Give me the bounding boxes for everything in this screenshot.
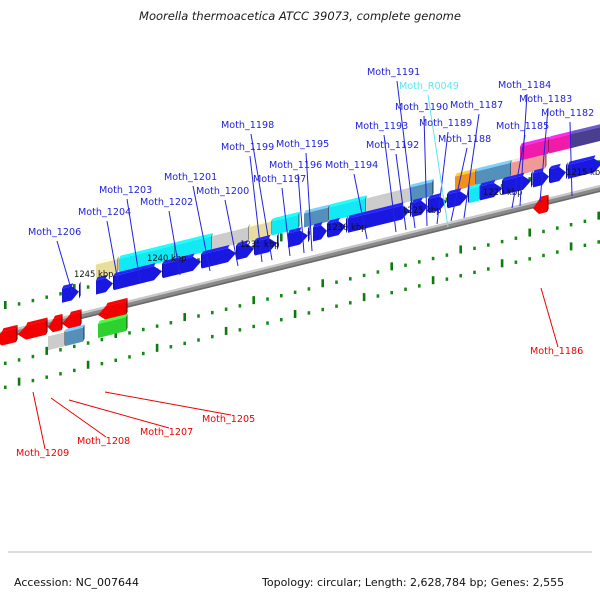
gene-feature[interactable] xyxy=(48,329,66,350)
gene-label[interactable]: Moth_1182 xyxy=(541,108,594,119)
gene-label[interactable]: Moth_1190 xyxy=(395,102,448,113)
gene-label[interactable]: Moth_1201 xyxy=(164,172,217,183)
gene-label[interactable]: Moth_1202 xyxy=(140,197,193,208)
accession-label: Accession: NC_007644 xyxy=(14,576,139,589)
gene-reverse-leader-line xyxy=(541,288,558,347)
gene-label[interactable]: Moth_1204 xyxy=(78,207,131,218)
gene-leader-line xyxy=(57,241,72,292)
gene-feature[interactable] xyxy=(571,123,600,149)
gene-label[interactable]: Moth_1195 xyxy=(276,139,329,150)
scale-tick-label: 1240 kbp xyxy=(147,253,186,263)
gene-feature[interactable] xyxy=(62,281,81,302)
gene-label[interactable]: Moth_1191 xyxy=(367,67,420,78)
gene-reverse-label[interactable]: Moth_1209 xyxy=(16,448,69,459)
gene-label[interactable]: Moth_1206 xyxy=(28,227,81,238)
gene-label[interactable]: Moth_1199 xyxy=(221,142,274,153)
gene-label[interactable]: Moth_1197 xyxy=(253,174,306,185)
gene-feature[interactable] xyxy=(0,325,18,346)
gene-reverse-leader-line xyxy=(33,392,45,449)
gene-reverse-label[interactable]: Moth_1208 xyxy=(77,436,130,447)
gene-reverse-leader-line xyxy=(69,400,169,428)
scale-tick-label: 1225 kbp xyxy=(402,205,441,215)
gene-reverse-label[interactable]: Moth_1186 xyxy=(530,346,583,357)
gene-reverse-leader-line xyxy=(105,392,231,415)
gene-reverse-leader-line xyxy=(51,398,106,437)
scale-tick-label: 1230 kbp xyxy=(327,222,366,232)
gene-label[interactable]: Moth_1193 xyxy=(355,121,408,132)
page-title: Moorella thermoacetica ATCC 39073, compl… xyxy=(139,9,461,23)
gene-label[interactable]: Moth_1194 xyxy=(325,160,378,171)
gene-feature[interactable] xyxy=(469,183,481,203)
gene-label[interactable]: Moth_1192 xyxy=(366,140,419,151)
gene-feature[interactable] xyxy=(550,162,568,183)
forward-strand-features xyxy=(62,123,600,303)
gene-label[interactable]: Moth_1187 xyxy=(450,100,503,111)
genome-map-svg: Moorella thermoacetica ATCC 39073, compl… xyxy=(0,0,600,600)
gene-label[interactable]: Moth_1185 xyxy=(496,121,549,132)
rna-label[interactable]: Moth_R0049 xyxy=(399,81,459,92)
gene-label[interactable]: Moth_1183 xyxy=(519,94,572,105)
genome-stats-label: Topology: circular; Length: 2,628,784 bp… xyxy=(261,576,564,589)
gene-label[interactable]: Moth_1184 xyxy=(498,80,551,91)
gene-reverse-label[interactable]: Moth_1207 xyxy=(140,427,193,438)
gene-label[interactable]: Moth_1198 xyxy=(221,120,274,131)
scale-tick-label: 1220 kbp xyxy=(483,187,522,197)
gene-label[interactable]: Moth_1188 xyxy=(438,134,491,145)
gene-label[interactable]: Moth_1196 xyxy=(269,160,322,171)
scale-tick-label: 1245 kbp xyxy=(74,269,113,279)
gene-leader-line xyxy=(437,132,448,224)
gene-label[interactable]: Moth_1200 xyxy=(196,186,249,197)
gene-reverse-label[interactable]: Moth_1205 xyxy=(202,414,255,425)
gene-label[interactable]: Moth_1203 xyxy=(99,185,152,196)
genome-graphic-canvas: Moorella thermoacetica ATCC 39073, compl… xyxy=(0,0,600,600)
plot-area: 1245 kbp1240 kbp1235 kbp1230 kbp1225 kbp… xyxy=(0,67,600,459)
gene-label[interactable]: Moth_1189 xyxy=(419,118,472,129)
